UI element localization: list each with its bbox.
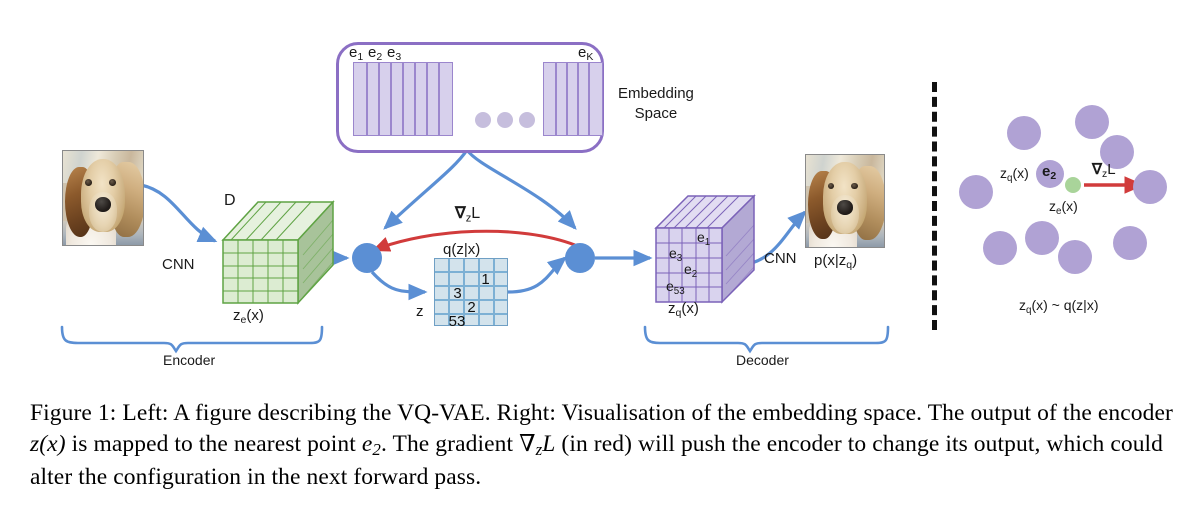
caption-math-gradient: ∇zL <box>519 431 555 457</box>
right-panel-ze-label: ze(x) <box>1049 198 1078 217</box>
code-e1-sub: 1 <box>705 237 710 248</box>
input-image <box>63 151 143 245</box>
right-panel-gradient-label: ∇zL <box>1092 160 1116 180</box>
caption-math-e2-sub: 2 <box>372 440 381 459</box>
e1-sub: 1 <box>357 51 363 63</box>
rp-ze-base: z <box>1049 198 1056 214</box>
embedding-point <box>983 231 1017 265</box>
decoder-brace-label: Decoder <box>736 352 789 368</box>
caption-math-e2: e2 <box>362 431 381 457</box>
latent-index-grid: 1 3 2 53 <box>434 258 508 326</box>
ek-sub: K <box>586 51 593 63</box>
latent-axis-label: z <box>416 303 424 320</box>
nabla-icon: ∇ <box>455 205 466 222</box>
embedding-ellipsis-dot <box>519 112 535 128</box>
embedding-label-e1: e1 <box>349 44 363 63</box>
code-e53-sub: 53 <box>674 286 685 297</box>
embedding-point <box>1025 221 1059 255</box>
rp-e2-sub: 2 <box>1050 170 1056 182</box>
output-likelihood-label: p(x|zq) <box>814 252 857 271</box>
caption-math-e2-base: e <box>362 431 373 457</box>
ze-tail: (x) <box>246 307 264 324</box>
caption-line-2-d: (in red) will push the <box>555 431 760 457</box>
caption-line-2-a: output of the encoder <box>971 400 1173 426</box>
quantization-node-right <box>565 243 595 273</box>
quantization-node-left <box>352 243 382 273</box>
photo-dog-eye-left <box>85 179 92 186</box>
pxzq-base: p(x|z <box>814 252 846 269</box>
decoder-cube-code: e3 <box>669 245 682 264</box>
code-e3-base: e <box>669 245 677 261</box>
ze-base: z <box>233 307 241 324</box>
embedding-block-first <box>353 62 453 136</box>
rp-zq-base: z <box>1000 165 1007 181</box>
posterior-label: q(z|x) <box>443 241 480 258</box>
output-image <box>806 155 884 247</box>
brace-decoder <box>645 327 888 351</box>
rp-ze-tail: (x) <box>1061 198 1077 214</box>
right-panel-nearest-code-label: e2 <box>1042 163 1056 182</box>
caption-loss-L: L <box>542 431 555 457</box>
caption-math-zx: z(x) <box>30 431 66 457</box>
embedding-space-title: Embedding Space <box>618 84 694 125</box>
embedding-point <box>1007 116 1041 150</box>
photo-dog-eye-right <box>851 183 858 189</box>
figure-caption: Figure 1: Left: A figure describing the … <box>30 398 1178 493</box>
encoder-cube-depth-label: D <box>224 192 236 210</box>
rp-bottom-tail: (x) ~ q(z|x) <box>1031 297 1098 313</box>
code-e53-base: e <box>666 278 674 294</box>
cnn-encoder-label: CNN <box>162 256 195 273</box>
embedding-point <box>1133 170 1167 204</box>
right-panel-zq-label: zq(x) <box>1000 165 1029 184</box>
right-panel-bottom-label: zq(x) ~ q(z|x) <box>1019 297 1098 316</box>
arrow-embedding-to-right-node <box>467 150 575 228</box>
code-e3-sub: 3 <box>677 253 682 264</box>
figure-caption-wrapper: Figure 1: Left: A figure describing the … <box>30 398 1178 493</box>
encoder-output-point <box>1065 177 1081 193</box>
code-e1-base: e <box>697 229 705 245</box>
gradient-label-left: ∇zL <box>455 203 480 224</box>
cnn-decoder-label: CNN <box>764 250 797 267</box>
loss-L: L <box>471 205 480 222</box>
embedding-label-ek: eK <box>578 44 593 63</box>
encoder-cube-label: ze(x) <box>233 307 264 326</box>
embedding-point <box>1075 105 1109 139</box>
panel-divider <box>932 82 937 330</box>
caption-nabla-icon: ∇ <box>519 431 536 457</box>
arrow-input-to-encoder <box>141 185 215 241</box>
rp-nabla-icon: ∇ <box>1092 161 1102 178</box>
embedding-point <box>1113 226 1147 260</box>
zq-tail: (x) <box>681 300 699 317</box>
caption-line-1: Figure 1: Left: A figure describing the … <box>30 400 965 426</box>
embedding-ellipsis-dot <box>497 112 513 128</box>
decoder-cube-label: zq(x) <box>668 300 699 319</box>
latent-index-cell: 53 <box>444 313 470 330</box>
decoder-cube-code: e1 <box>697 229 710 248</box>
photo-dog-nose <box>837 200 853 215</box>
arrow-node-to-latent-grid <box>372 272 425 292</box>
latent-index-cell: 3 <box>450 285 465 302</box>
e3-sub: 3 <box>395 51 401 63</box>
embedding-label-e3: e3 <box>387 44 401 63</box>
embedding-block-last <box>543 62 603 136</box>
embedding-space-line2: Space <box>618 104 694 124</box>
encoder-brace-label: Encoder <box>163 352 215 368</box>
latent-index-cell: 1 <box>478 271 493 288</box>
decoder-cube-code: e53 <box>666 278 685 297</box>
brace-encoder <box>62 327 322 351</box>
embedding-ellipsis-dot <box>475 112 491 128</box>
arrow-latent-grid-to-node <box>508 258 565 292</box>
e2-sub: 2 <box>376 51 382 63</box>
rp-loss-L: L <box>1107 161 1115 178</box>
photo-dog-nose <box>95 197 111 212</box>
rp-bottom-base: z <box>1019 297 1026 313</box>
photo-dog-eye-right <box>109 179 116 186</box>
embedding-point <box>959 175 993 209</box>
embedding-space-line1: Embedding <box>618 85 694 102</box>
decoder-cube-code: e2 <box>684 261 697 280</box>
caption-line-2-c: . The gradient <box>381 431 519 457</box>
rp-zq-tail: (x) <box>1012 165 1028 181</box>
embedding-point <box>1058 240 1092 274</box>
zq-base: z <box>668 300 676 317</box>
pxzq-tail: ) <box>852 252 857 269</box>
figure-vqvae: CNN D ze(x) <box>0 0 1200 507</box>
embedding-label-e2: e2 <box>368 44 382 63</box>
caption-line-2-b: is mapped to the nearest point <box>66 431 362 457</box>
code-e2-base: e <box>684 261 692 277</box>
code-e2-sub: 2 <box>692 269 697 280</box>
